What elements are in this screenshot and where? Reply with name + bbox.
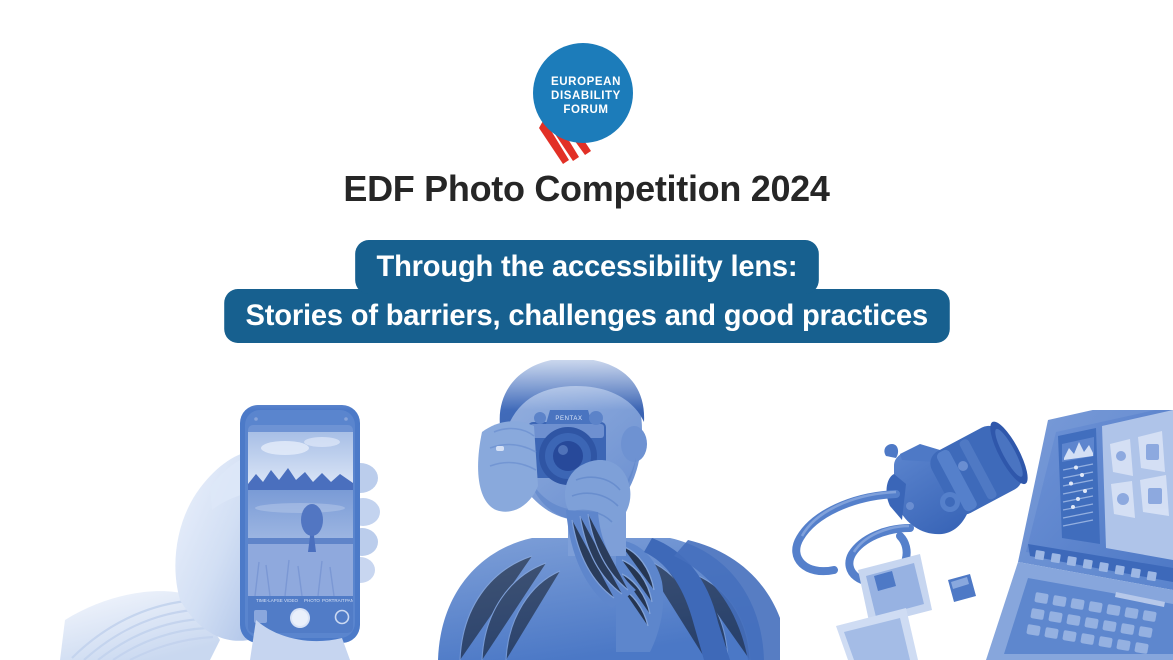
subtitle-line-2-text: Stories of barriers, challenges and good… <box>224 289 949 343</box>
subtitle-line-1: Through the accessibility lens: <box>0 240 1173 295</box>
logo-text-line2: DISABILITY <box>551 90 621 102</box>
photo-collage: TIME-LAPSE VIDEO PHOTO PORTRAIT PANO <box>0 340 1173 660</box>
photo-camera-and-laptop <box>790 410 1173 660</box>
photo-hand-holding-smartphone: TIME-LAPSE VIDEO PHOTO PORTRAIT PANO <box>60 370 460 660</box>
logo: EUROPEAN DISABILITY FORUM <box>513 35 663 165</box>
smartphone: TIME-LAPSE VIDEO PHOTO PORTRAIT PANO <box>240 405 360 643</box>
svg-text:VIDEO: VIDEO <box>284 598 299 603</box>
svg-text:PENTAX: PENTAX <box>555 416 582 422</box>
page-title: EDF Photo Competition 2024 <box>0 168 1173 210</box>
svg-text:TIME-LAPSE: TIME-LAPSE <box>256 598 283 603</box>
logo-text-line3: FORUM <box>563 104 608 116</box>
dslr-camera <box>884 417 1034 534</box>
photo-person-with-camera: PENTAX <box>420 360 780 660</box>
subtitle-line-1-text: Through the accessibility lens: <box>355 240 819 294</box>
subtitle-line-2: Stories of barriers, challenges and good… <box>0 295 1173 344</box>
logo-text-line1: EUROPEAN <box>551 76 621 88</box>
svg-text:PHOTO: PHOTO <box>304 598 320 603</box>
subtitle-banner: Through the accessibility lens: Stories … <box>0 240 1173 344</box>
svg-text:PORTRAIT: PORTRAIT <box>322 598 345 603</box>
edf-logo-icon: EUROPEAN DISABILITY FORUM <box>513 35 663 165</box>
